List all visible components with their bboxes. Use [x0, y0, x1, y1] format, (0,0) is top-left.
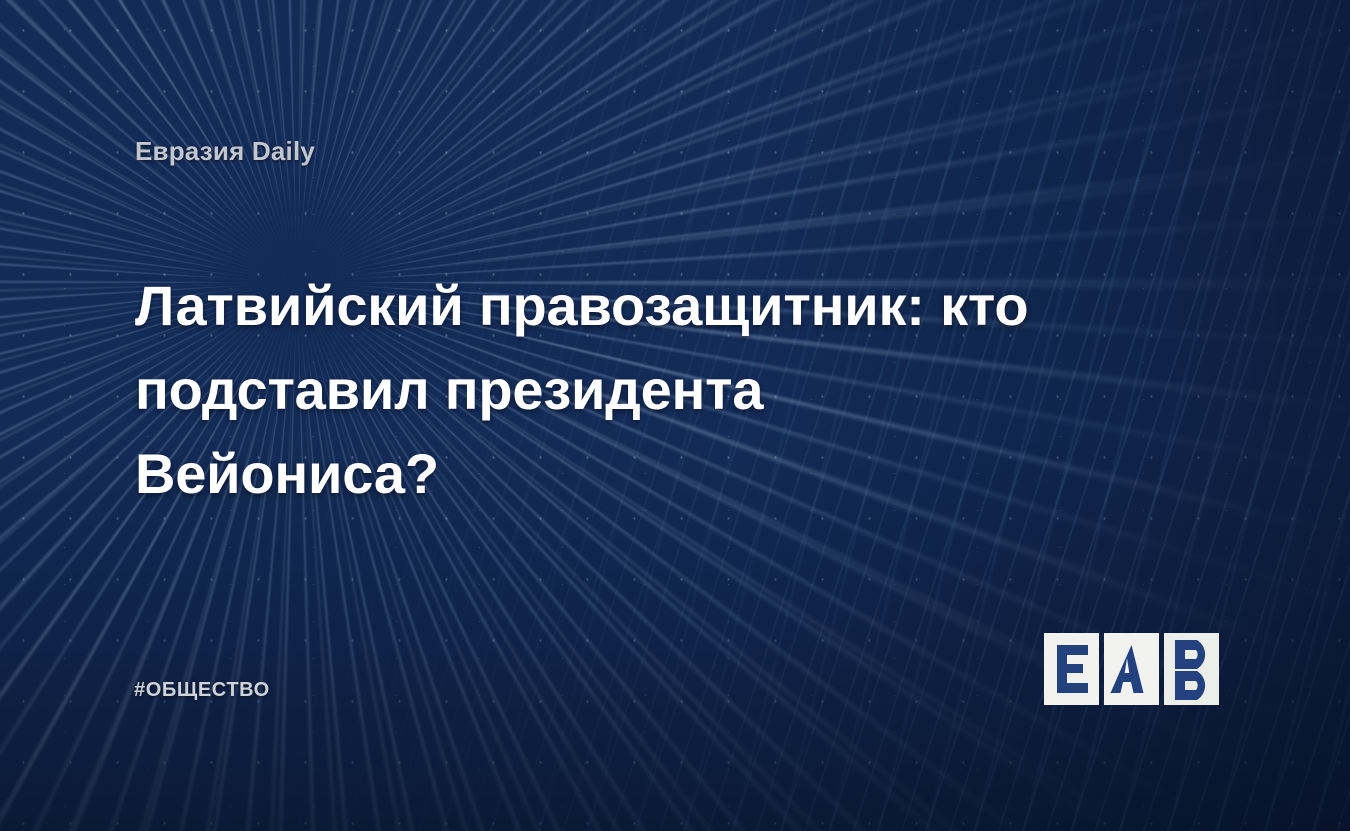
eadaily-logo-mark — [1044, 628, 1230, 708]
site-brand-name: Евразия Daily — [135, 136, 315, 167]
eadaily-logo — [1044, 628, 1230, 708]
social-share-card: Евразия Daily Латвийский правозащитник: … — [0, 0, 1350, 831]
card-content: Евразия Daily Латвийский правозащитник: … — [0, 0, 1350, 831]
category-tag: #ОБЩЕСТВО — [134, 679, 270, 702]
headline-title: Латвийский правозащитник: кто подставил … — [135, 264, 1065, 516]
